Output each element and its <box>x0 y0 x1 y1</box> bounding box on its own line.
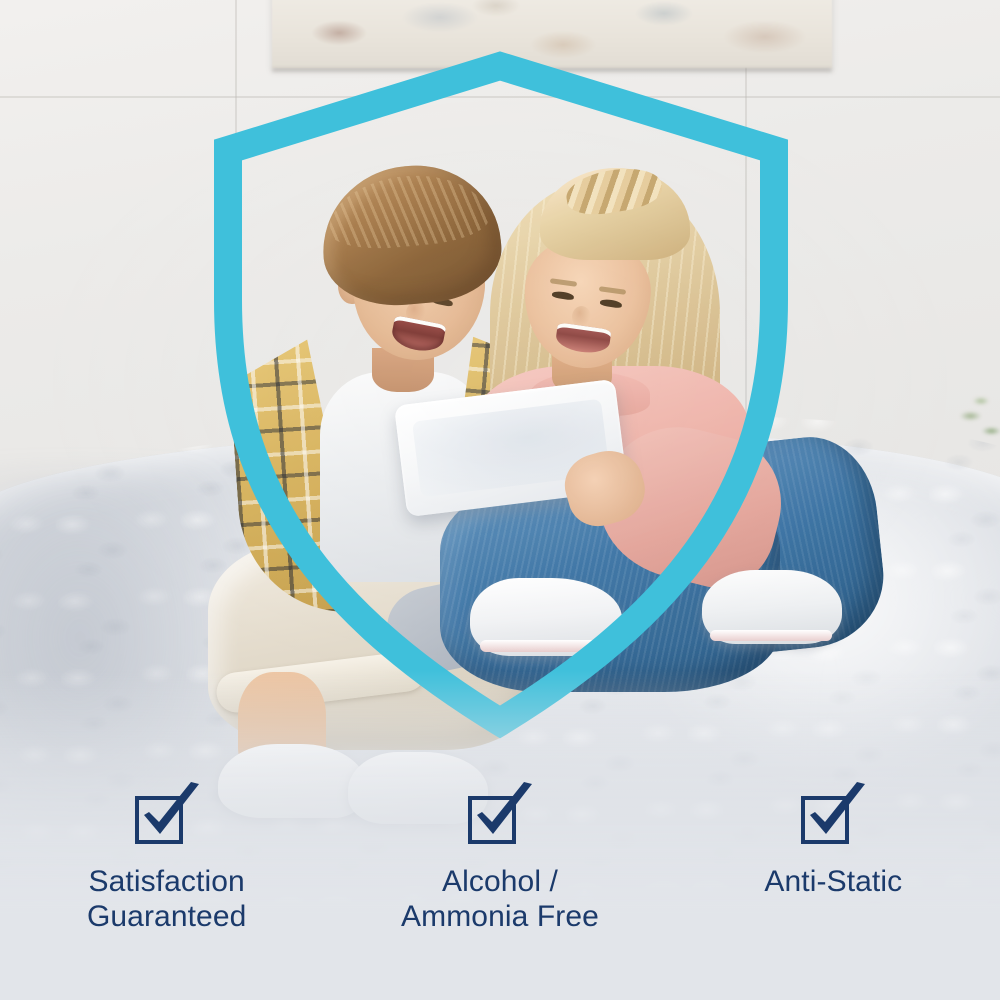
feature-badge-label: Satisfaction Guaranteed <box>87 864 246 935</box>
plant-leaf <box>955 392 1000 452</box>
feature-badge-alcohol-ammonia-free: Alcohol / Ammonia Free <box>333 760 666 935</box>
girl-shoe-right <box>702 570 842 644</box>
checkbox-checked-icon <box>797 782 869 848</box>
wall-artwork <box>272 0 832 68</box>
feature-badge-label: Anti-Static <box>764 864 902 899</box>
feature-badge-row: Satisfaction Guaranteed Alcohol / Ammoni… <box>0 760 1000 1000</box>
wall-seam <box>0 96 1000 98</box>
girl-shoe-left <box>470 578 622 656</box>
checkbox-checked-icon <box>464 782 536 848</box>
checkbox-checked-icon <box>131 782 203 848</box>
feature-badge-satisfaction: Satisfaction Guaranteed <box>0 760 333 935</box>
infographic-canvas: Satisfaction Guaranteed Alcohol / Ammoni… <box>0 0 1000 1000</box>
feature-badge-anti-static: Anti-Static <box>667 760 1000 899</box>
feature-badge-label: Alcohol / Ammonia Free <box>401 864 599 935</box>
